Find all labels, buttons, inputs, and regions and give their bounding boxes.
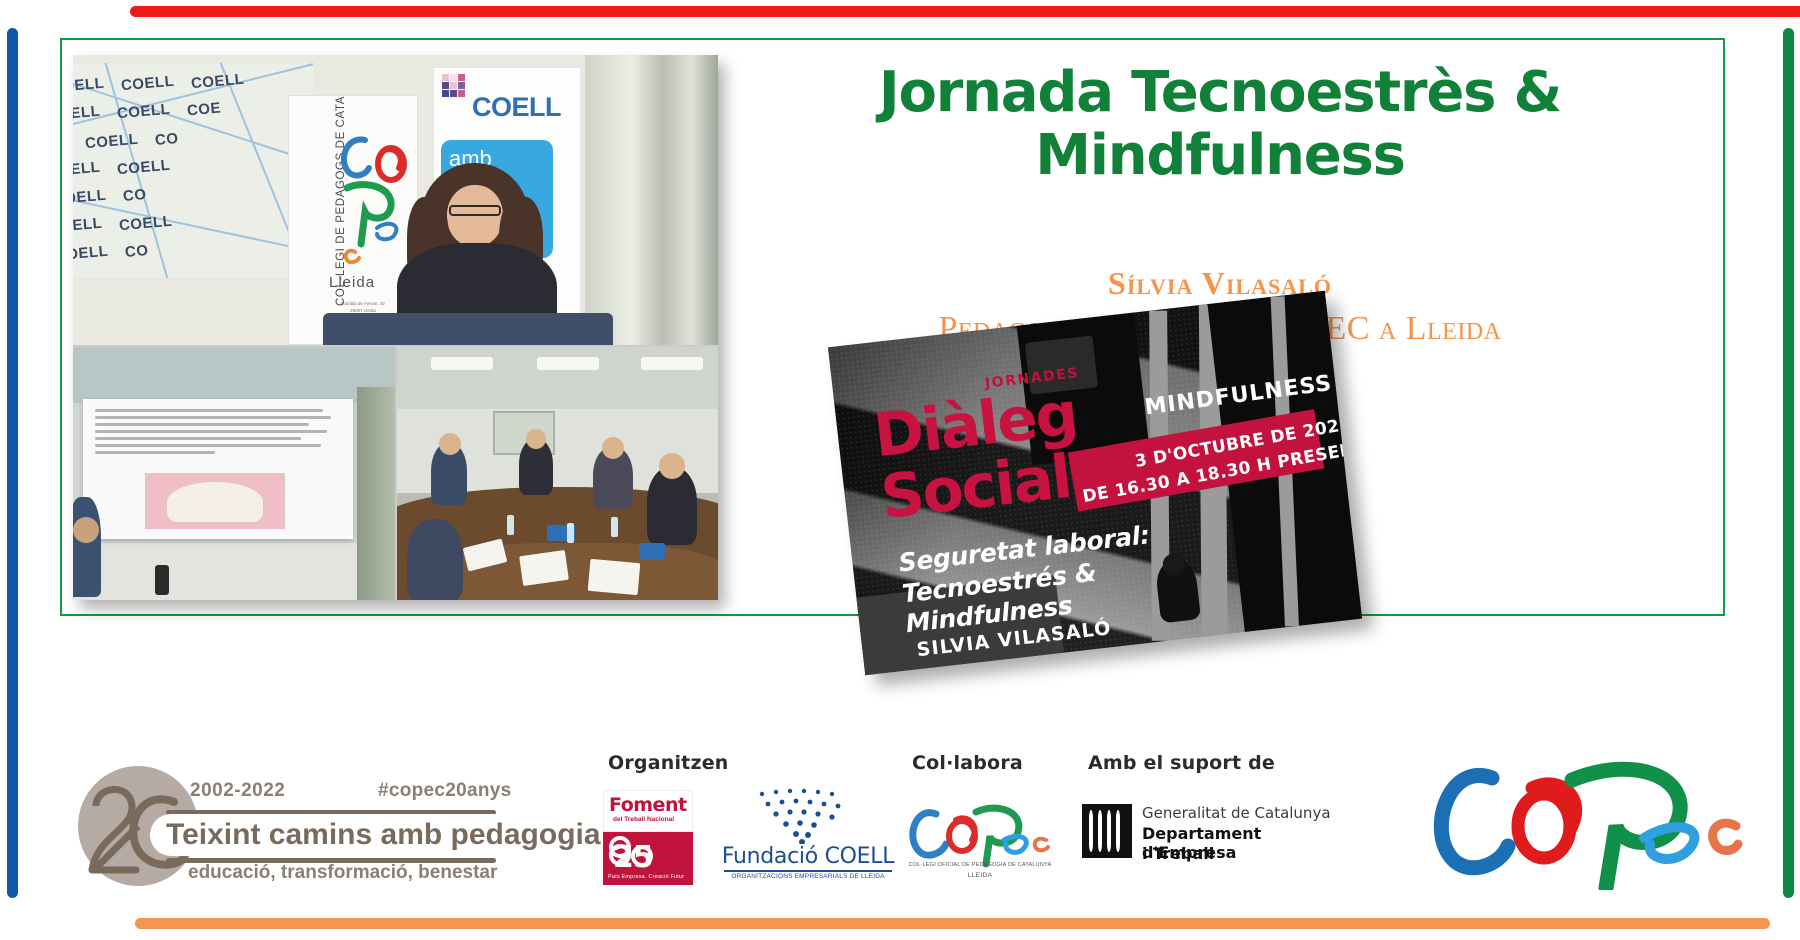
bottom-orange-rule	[135, 918, 1770, 929]
heading-organitzen: Organitzen	[608, 752, 729, 774]
heading-suport: Amb el suport de	[1088, 752, 1275, 774]
foment-subtitle: del Treball Nacional	[613, 816, 674, 823]
foment-tagline: País Empresa. Creació Futur	[608, 874, 684, 880]
poster-canvas: COELL COELL COELL COELL COELL COE COELL …	[0, 0, 1800, 940]
copec-small-subtitle: COL·LEGI OFICIAL DE PEDAGOGIA DE CATALUN…	[900, 862, 1060, 868]
logo-copec-small: COL·LEGI OFICIAL DE PEDAGOGIA DE CATALUN…	[900, 790, 1060, 886]
photo-collage: COELL COELL COELL COELL COELL COE COELL …	[73, 55, 718, 600]
left-blue-rule	[7, 28, 18, 898]
logo-foment-del-treball: Foment del Treball Nacional 25 País Empr…	[603, 790, 693, 885]
front-table	[323, 313, 613, 345]
anniversary-years: 2002-2022	[190, 780, 285, 802]
top-red-rule	[130, 6, 1800, 17]
photo-meeting-room	[397, 347, 718, 600]
fundacio-coell-name: Fundació COELL	[718, 844, 898, 869]
title-line-1: Jornada Tecnoestrès &	[770, 62, 1670, 125]
fundacio-coell-dot-mark	[754, 788, 864, 844]
logo-generalitat: Generalitat de Catalunya Departament d'E…	[1082, 800, 1332, 870]
foment-ring	[631, 845, 653, 867]
anniversary-logo: 2002-2022 #copec20anys Teixint camins am…	[78, 762, 498, 890]
foment-wordmark: Foment	[609, 794, 687, 816]
office-door	[585, 55, 718, 345]
copec-small-city: LLEIDA	[900, 872, 1060, 879]
speaker-name: Sílvia Vilasaló	[770, 265, 1670, 302]
page-title: Jornada Tecnoestrès & Mindfulness	[770, 62, 1670, 187]
photo-projection-screen	[73, 347, 395, 600]
rollup-city: Lleida	[329, 274, 375, 291]
heading-collabora: Col·labora	[912, 752, 1023, 774]
generalitat-line-3: i Treball	[1142, 844, 1214, 863]
copec-small-mark	[900, 790, 1060, 868]
title-line-2: Mindfulness	[770, 125, 1670, 188]
logo-fundacio-coell: Fundació COELL ORGANITZACIONS EMPRESARIA…	[718, 788, 898, 886]
anniversary-tagline: educació, transformació, benestar	[188, 862, 497, 884]
anniversary-claim: Teixint camins amb pedagogia	[150, 814, 617, 856]
generalitat-shield-icon	[1082, 804, 1132, 858]
coell-banner-title: COELL	[472, 92, 561, 123]
right-green-rule	[1783, 28, 1794, 898]
anniversary-hashtag: #copec20anys	[378, 780, 512, 802]
event-flyer: JORNADES Diàleg Social MINDFULNESS 3 D'O…	[828, 291, 1362, 675]
fundacio-coell-subtitle: ORGANITZACIONS EMPRESARIALS DE LLEIDA	[718, 873, 898, 880]
photo-speaker-at-coell: COELL COELL COELL COELL COELL COE COELL …	[73, 55, 718, 345]
generalitat-line-1: Generalitat de Catalunya	[1142, 804, 1331, 822]
logo-copec-large	[1420, 730, 1760, 890]
coell-wall-poster: COELL COELL COELL COELL COELL COE COELL …	[73, 63, 313, 278]
foment-number-text: 25	[609, 836, 653, 872]
